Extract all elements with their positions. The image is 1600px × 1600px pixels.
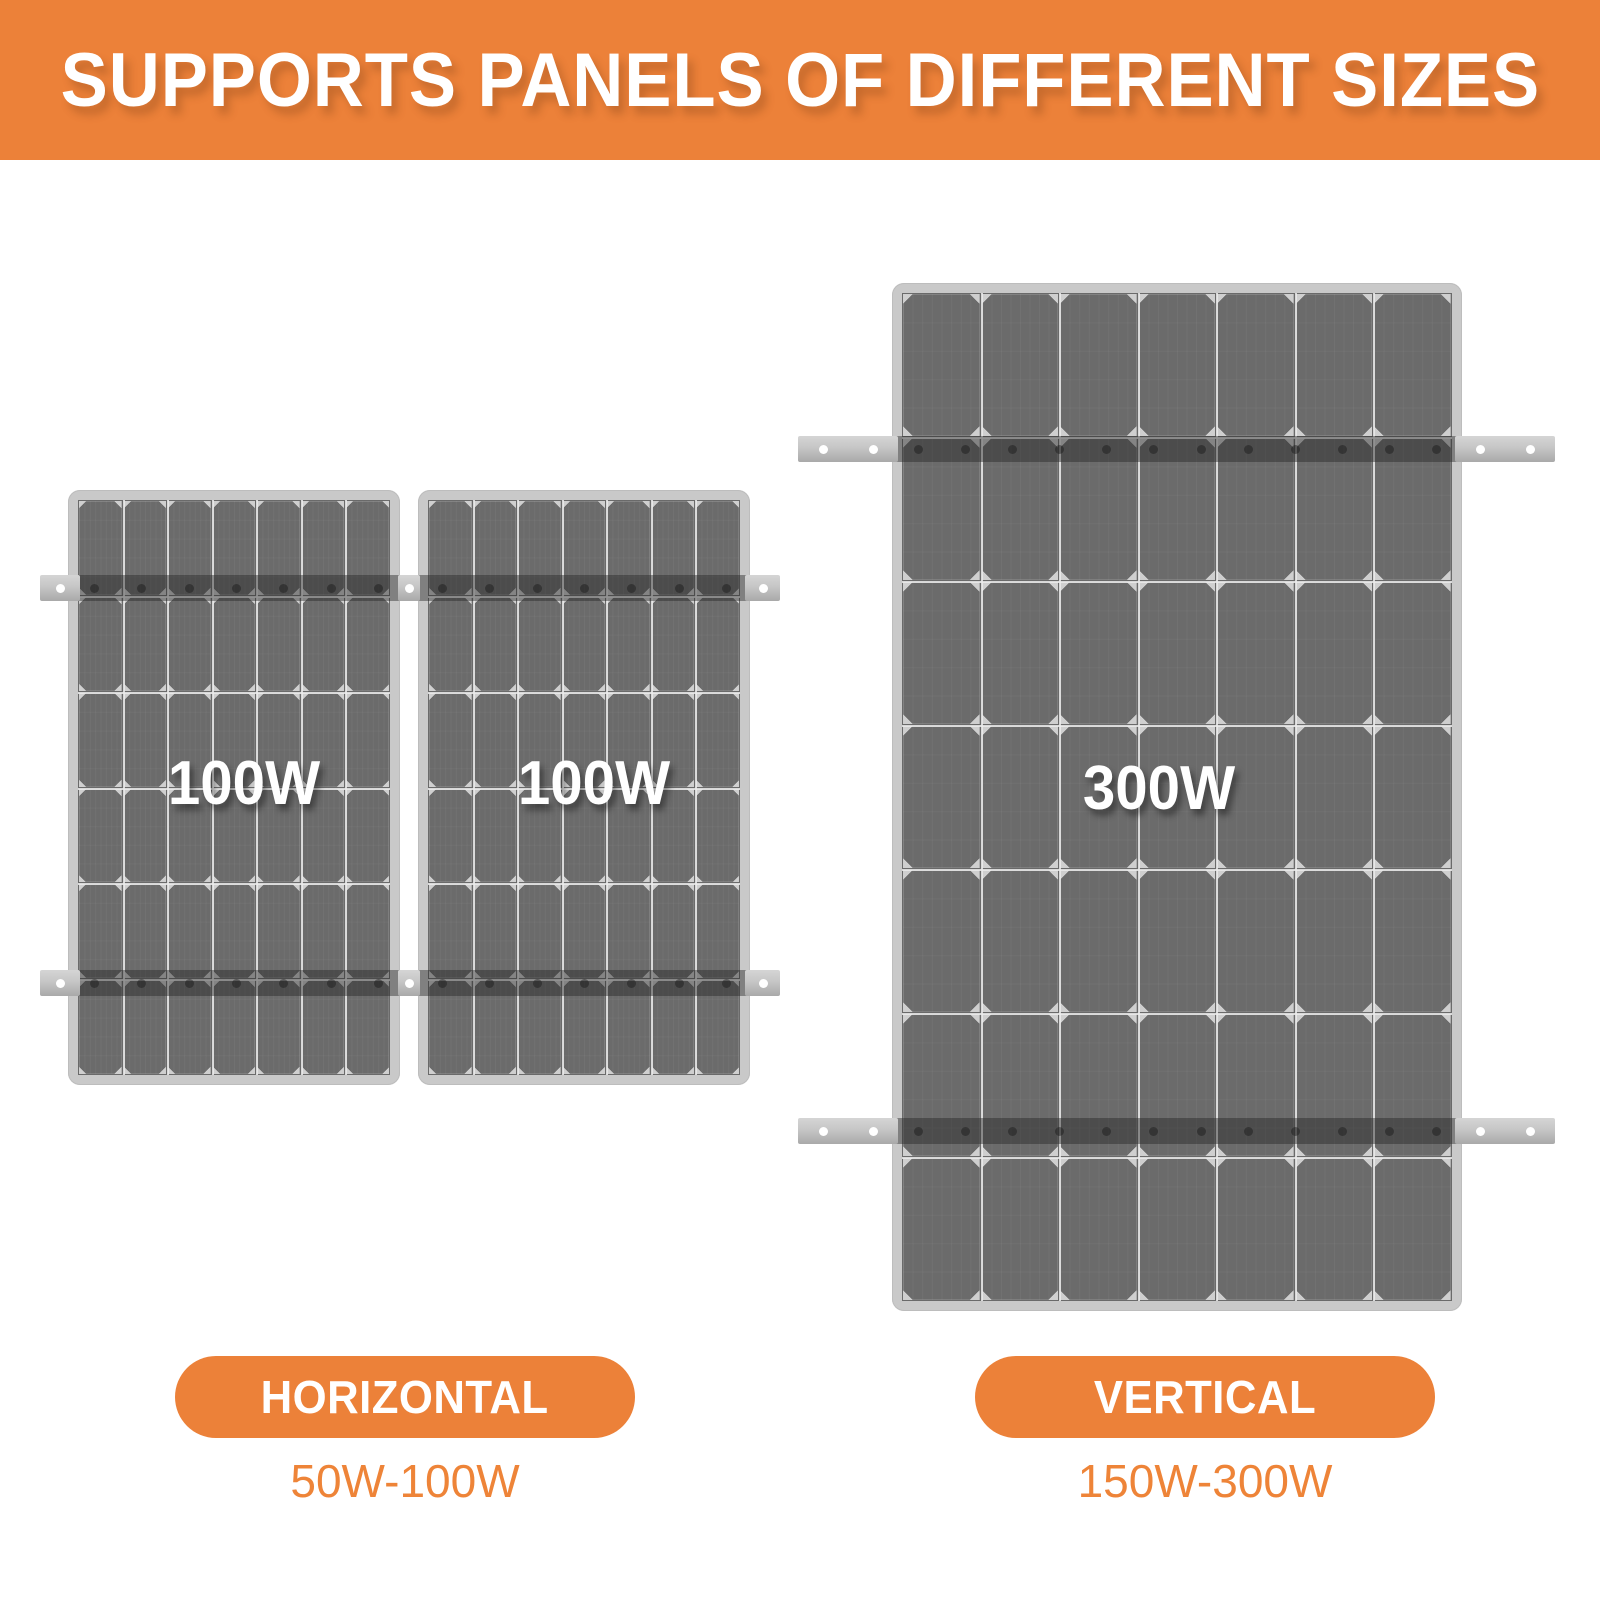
solar-cell bbox=[346, 789, 389, 883]
range-label-vertical: 150W-300W bbox=[975, 1454, 1435, 1508]
solar-cell bbox=[79, 693, 122, 787]
solar-cell bbox=[982, 582, 1059, 724]
mounting-rail-vertical-bottom-left bbox=[798, 1118, 898, 1144]
rail-bolt-hole bbox=[1102, 1127, 1111, 1136]
range-label-horizontal: 50W-100W bbox=[175, 1454, 635, 1508]
label-pill-vertical-text: VERTICAL bbox=[1094, 1370, 1316, 1424]
mounting-rail-vertical-bottom-right bbox=[1455, 1118, 1555, 1144]
solar-cell bbox=[696, 884, 739, 978]
solar-cell bbox=[302, 884, 345, 978]
solar-cell bbox=[302, 597, 345, 691]
rail-bolt-hole bbox=[1526, 1127, 1535, 1136]
mounting-rail-vertical-top-overlay bbox=[894, 436, 1460, 462]
rail-bolt-hole bbox=[1008, 1127, 1017, 1136]
mounting-rail-vertical-bottom-overlay bbox=[894, 1118, 1460, 1144]
solar-cell bbox=[1060, 294, 1137, 436]
label-pill-horizontal-text: HORIZONTAL bbox=[261, 1370, 549, 1424]
rail-bolt-hole bbox=[279, 584, 288, 593]
rail-bolt-hole bbox=[533, 584, 542, 593]
rail-bolt-hole bbox=[819, 1127, 828, 1136]
rail-bolt-hole bbox=[232, 584, 241, 593]
header-banner: SUPPORTS PANELS OF DIFFERENT SIZES bbox=[0, 0, 1600, 160]
rail-bolt-hole bbox=[914, 445, 923, 454]
rail-bolt-hole bbox=[1197, 1127, 1206, 1136]
rail-bolt-hole bbox=[56, 979, 65, 988]
solar-cell bbox=[79, 597, 122, 691]
rail-bolt-hole bbox=[1432, 445, 1441, 454]
solar-cell bbox=[257, 597, 300, 691]
rail-bolt-hole bbox=[1149, 445, 1158, 454]
solar-cell bbox=[168, 597, 211, 691]
rail-bolt-hole bbox=[819, 445, 828, 454]
solar-cell bbox=[1139, 582, 1216, 724]
rail-bolt-hole bbox=[90, 979, 99, 988]
solar-cell bbox=[903, 870, 980, 1012]
rail-bolt-hole bbox=[327, 584, 336, 593]
mounting-rail-bottom-overlay-p2 bbox=[418, 970, 750, 996]
solar-cell bbox=[1139, 1158, 1216, 1300]
mounting-rail-top-right-stub bbox=[745, 575, 780, 601]
rail-bolt-hole bbox=[374, 979, 383, 988]
rail-bolt-hole bbox=[1244, 445, 1253, 454]
solar-cell bbox=[903, 294, 980, 436]
solar-cell bbox=[1217, 582, 1294, 724]
mounting-rail-vertical-top-left bbox=[798, 436, 898, 462]
solar-cell bbox=[1139, 870, 1216, 1012]
rail-bolt-hole bbox=[279, 979, 288, 988]
rail-bolt-hole bbox=[869, 1127, 878, 1136]
solar-cell bbox=[429, 884, 472, 978]
solar-cell bbox=[563, 884, 606, 978]
solar-cell bbox=[563, 597, 606, 691]
solar-cell bbox=[903, 1158, 980, 1300]
rail-bolt-hole bbox=[722, 979, 731, 988]
mounting-rail-top-overlay-p1 bbox=[70, 575, 402, 601]
solar-cell bbox=[696, 789, 739, 883]
rail-bolt-hole bbox=[1338, 1127, 1347, 1136]
wattage-label-100w-right: 100W bbox=[518, 748, 670, 819]
mounting-rail-vertical-top-right bbox=[1455, 436, 1555, 462]
rail-bolt-hole bbox=[405, 979, 414, 988]
mounting-rail-bottom-right-stub bbox=[745, 970, 780, 996]
rail-bolt-hole bbox=[485, 979, 494, 988]
solar-cell bbox=[168, 884, 211, 978]
solar-cell bbox=[1296, 870, 1373, 1012]
solar-cell bbox=[1296, 294, 1373, 436]
rail-bolt-hole bbox=[1055, 1127, 1064, 1136]
rail-bolt-hole bbox=[1291, 1127, 1300, 1136]
wattage-label-100w-left: 100W bbox=[168, 748, 320, 819]
mounting-rail-bottom-overlay-p1 bbox=[70, 970, 402, 996]
mounting-rail-bottom-left-stub bbox=[40, 970, 80, 996]
solar-cell bbox=[429, 597, 472, 691]
label-pill-vertical[interactable]: VERTICAL bbox=[975, 1356, 1435, 1438]
rail-bolt-hole bbox=[1244, 1127, 1253, 1136]
rail-bolt-hole bbox=[533, 979, 542, 988]
rail-bolt-hole bbox=[961, 1127, 970, 1136]
mounting-rail-top-left-stub bbox=[40, 575, 80, 601]
solar-cell bbox=[1296, 726, 1373, 868]
mounting-rail-top-overlay-p2 bbox=[418, 575, 750, 601]
solar-cell bbox=[474, 789, 517, 883]
rail-bolt-hole bbox=[185, 979, 194, 988]
solar-cell bbox=[1060, 582, 1137, 724]
mounting-rail-bottom-gap bbox=[398, 970, 420, 996]
wattage-label-300w: 300W bbox=[1083, 753, 1235, 824]
solar-cell bbox=[124, 597, 167, 691]
solar-cell bbox=[1060, 1158, 1137, 1300]
solar-cell bbox=[1217, 1158, 1294, 1300]
mounting-rail-top-gap bbox=[398, 575, 420, 601]
rail-bolt-hole bbox=[627, 979, 636, 988]
solar-cell bbox=[474, 693, 517, 787]
solar-cell bbox=[518, 884, 561, 978]
rail-bolt-hole bbox=[90, 584, 99, 593]
rail-bolt-hole bbox=[722, 584, 731, 593]
rail-bolt-hole bbox=[1197, 445, 1206, 454]
solar-cell bbox=[346, 693, 389, 787]
solar-cell bbox=[903, 582, 980, 724]
rail-bolt-hole bbox=[1102, 445, 1111, 454]
rail-bolt-hole bbox=[869, 445, 878, 454]
illustration-stage: 100W 100W 300W HORIZONTAL 50W-100W VERTI… bbox=[0, 160, 1600, 1600]
solar-cell bbox=[213, 884, 256, 978]
rail-bolt-hole bbox=[759, 979, 768, 988]
rail-bolt-hole bbox=[1055, 445, 1064, 454]
rail-bolt-hole bbox=[405, 584, 414, 593]
rail-bolt-hole bbox=[1476, 1127, 1485, 1136]
solar-cell bbox=[346, 884, 389, 978]
solar-cell bbox=[652, 597, 695, 691]
solar-cell bbox=[1374, 294, 1451, 436]
solar-cell bbox=[429, 789, 472, 883]
solar-cell bbox=[982, 870, 1059, 1012]
rail-bolt-hole bbox=[374, 584, 383, 593]
rail-bolt-hole bbox=[759, 584, 768, 593]
rail-bolt-hole bbox=[1338, 445, 1347, 454]
solar-cell bbox=[1139, 294, 1216, 436]
solar-cell bbox=[474, 597, 517, 691]
solar-cell bbox=[1060, 870, 1137, 1012]
solar-cell bbox=[1296, 1158, 1373, 1300]
rail-bolt-hole bbox=[56, 584, 65, 593]
solar-cell bbox=[79, 789, 122, 883]
rail-bolt-hole bbox=[1432, 1127, 1441, 1136]
rail-bolt-hole bbox=[438, 584, 447, 593]
solar-cell bbox=[124, 693, 167, 787]
rail-bolt-hole bbox=[675, 979, 684, 988]
rail-bolt-hole bbox=[1008, 445, 1017, 454]
rail-bolt-hole bbox=[1385, 1127, 1394, 1136]
solar-cell bbox=[1374, 1158, 1451, 1300]
rail-bolt-hole bbox=[137, 979, 146, 988]
rail-bolt-hole bbox=[580, 979, 589, 988]
rail-bolt-hole bbox=[914, 1127, 923, 1136]
solar-cell bbox=[518, 597, 561, 691]
rail-bolt-hole bbox=[1476, 445, 1485, 454]
rail-bolt-hole bbox=[485, 584, 494, 593]
rail-bolt-hole bbox=[675, 584, 684, 593]
solar-cell bbox=[1374, 870, 1451, 1012]
rail-bolt-hole bbox=[580, 584, 589, 593]
banner-title: SUPPORTS PANELS OF DIFFERENT SIZES bbox=[60, 37, 1539, 124]
rail-bolt-hole bbox=[1385, 445, 1394, 454]
solar-cell bbox=[213, 597, 256, 691]
rail-bolt-hole bbox=[627, 584, 636, 593]
rail-bolt-hole bbox=[185, 584, 194, 593]
rail-bolt-hole bbox=[137, 584, 146, 593]
solar-cell bbox=[982, 1158, 1059, 1300]
solar-cell bbox=[1374, 582, 1451, 724]
solar-cell bbox=[903, 726, 980, 868]
solar-cell bbox=[982, 294, 1059, 436]
solar-cell bbox=[257, 884, 300, 978]
solar-cell bbox=[1296, 582, 1373, 724]
solar-cell bbox=[346, 597, 389, 691]
solar-cell bbox=[79, 884, 122, 978]
solar-cell bbox=[124, 884, 167, 978]
solar-cell bbox=[124, 789, 167, 883]
solar-cell bbox=[1217, 870, 1294, 1012]
rail-bolt-hole bbox=[327, 979, 336, 988]
solar-cell bbox=[474, 884, 517, 978]
label-pill-horizontal[interactable]: HORIZONTAL bbox=[175, 1356, 635, 1438]
rail-bolt-hole bbox=[232, 979, 241, 988]
rail-bolt-hole bbox=[438, 979, 447, 988]
solar-cell bbox=[607, 884, 650, 978]
solar-cell bbox=[982, 726, 1059, 868]
solar-cell bbox=[429, 693, 472, 787]
rail-bolt-hole bbox=[1149, 1127, 1158, 1136]
solar-cell bbox=[1374, 726, 1451, 868]
rail-bolt-hole bbox=[1291, 445, 1300, 454]
solar-cell bbox=[607, 597, 650, 691]
solar-cell bbox=[696, 597, 739, 691]
solar-cell bbox=[696, 693, 739, 787]
rail-bolt-hole bbox=[1526, 445, 1535, 454]
solar-cell bbox=[1217, 294, 1294, 436]
solar-cell bbox=[652, 884, 695, 978]
rail-bolt-hole bbox=[961, 445, 970, 454]
